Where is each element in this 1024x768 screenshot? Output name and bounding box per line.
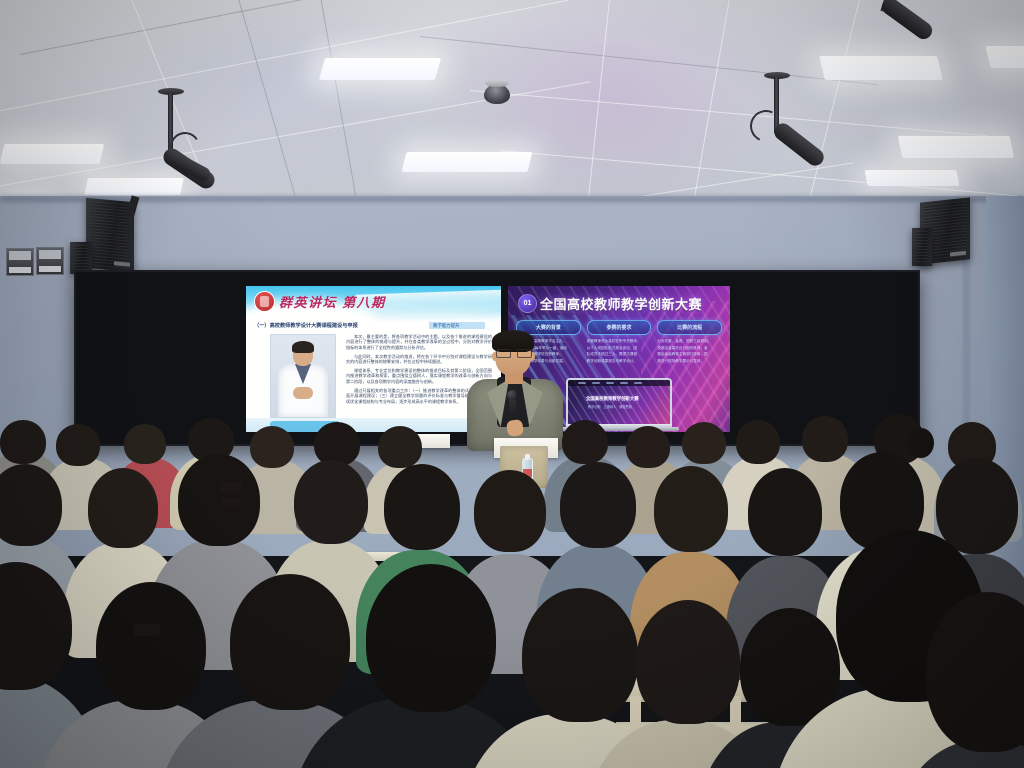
info-card-line: 赛由省级教育主管部门统筹，国 xyxy=(657,352,722,357)
info-card-line: 赛进行现场教学展示与答辩。 xyxy=(657,359,722,364)
info-card: 参赛的要求 参赛教师须为高校在职专任教师， 以个人或团队形式报名参加，团 队成员… xyxy=(587,320,652,365)
speaker-amp-right xyxy=(912,228,932,266)
glasses-icon xyxy=(496,349,530,356)
info-card-line: 参赛教师须为高校在职专任教师， xyxy=(587,339,652,344)
portrait-hands xyxy=(293,387,313,399)
ceiling-light-panel xyxy=(819,56,943,80)
ceiling-light-panel xyxy=(898,136,1015,158)
ceiling-light-panel xyxy=(402,152,533,172)
left-slide-tag: 教学能力提升 xyxy=(429,322,485,329)
ceiling-light-panel xyxy=(84,178,184,195)
wall-speaker-left xyxy=(86,198,134,272)
lecture-hall-photo: 群英讲坛 第八期 （一）高校教师教学设计大赛课程建设与申报 教学能力提升 主讲人… xyxy=(0,0,1024,768)
info-card-line: 队成员不超过三人。需提交课程 xyxy=(587,352,652,357)
ceiling-light-panel xyxy=(0,144,104,164)
ceiling-light-panel xyxy=(319,58,441,80)
wall-mounted-device xyxy=(6,248,34,276)
speaker-portrait-photo xyxy=(270,334,336,418)
ceiling-light-panel xyxy=(985,46,1024,68)
audience-area xyxy=(0,412,1024,768)
laptop-screen-title: 全国高校教师教学创新大赛 xyxy=(586,396,639,402)
info-card-line: 校赛由各高校自行组织推荐，省 xyxy=(657,346,722,351)
info-card-heading: 比赛的流程 xyxy=(657,320,722,335)
ceiling-color-tint xyxy=(430,0,790,210)
info-card-body: 参赛教师须为高校在职专任教师， 以个人或团队形式报名参加，团 队成员不超过三人。… xyxy=(587,339,652,363)
portrait-hair xyxy=(292,341,314,353)
laptop-screen-subtitle: 教学创新 · 立德树人 · 课程思政 xyxy=(588,404,632,409)
info-card-line: 分为校赛、省赛、国赛三级赛制。 xyxy=(657,339,722,344)
seal-icon xyxy=(254,291,275,312)
laptop-titlebar xyxy=(568,380,670,386)
wall-mounted-device xyxy=(36,247,64,275)
dome-security-camera xyxy=(484,84,510,104)
info-card-body: 分为校赛、省赛、国赛三级赛制。 校赛由各高校自行组织推荐，省 赛由省级教育主管部… xyxy=(657,339,722,363)
info-card: 比赛的流程 分为校赛、省赛、国赛三级赛制。 校赛由各高校自行组织推荐，省 赛由省… xyxy=(657,320,722,365)
left-slide-tag-label: 教学能力提升 xyxy=(433,323,459,329)
left-slide-title: 群英讲坛 第八期 xyxy=(279,292,386,311)
info-card-heading: 参赛的要求 xyxy=(587,320,652,335)
left-slide-section-heading: （一）高校教师教学设计大赛课程建设与申报 xyxy=(254,322,358,329)
info-card-line: 以个人或团队形式报名参加，团 xyxy=(587,346,652,351)
wall-ceiling-joint xyxy=(0,196,1024,202)
info-card-line: 教学创新成果报告与教学设计。 xyxy=(587,359,652,364)
ceiling-light-panel xyxy=(864,170,959,186)
right-slide-title: 全国高校教师教学创新大赛 xyxy=(540,294,702,313)
section-number-badge: 01 xyxy=(518,294,537,313)
